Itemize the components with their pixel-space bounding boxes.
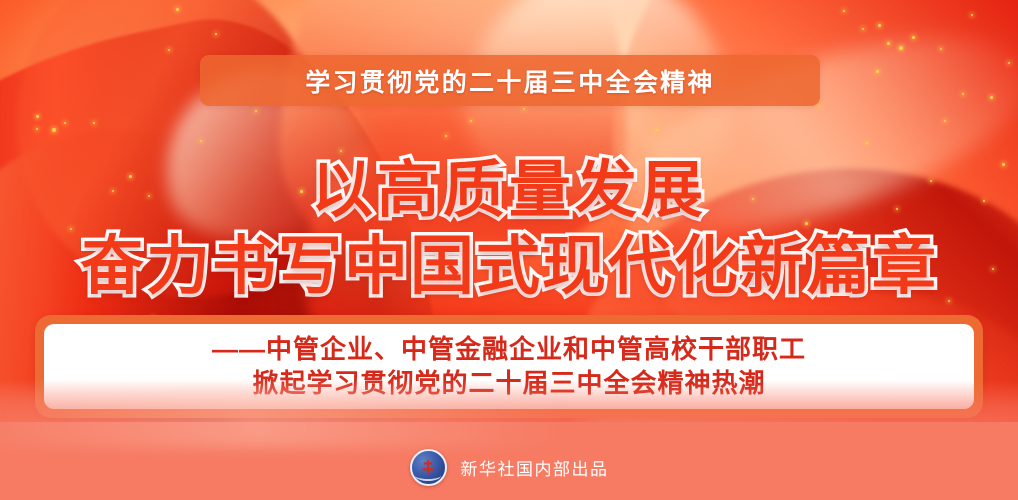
xinhua-news-agency-emblem-icon bbox=[410, 449, 447, 486]
subtitle-line-1: ——中管企业、中管金融企业和中管高校干部职工 bbox=[212, 335, 806, 365]
footer-text: 新华社国内部出品 bbox=[461, 455, 609, 480]
top-banner: 学习贯彻党的二十届三中全会精神 bbox=[200, 55, 820, 106]
footer: 新华社国内部出品 bbox=[0, 449, 1018, 486]
poster-canvas: 学习贯彻党的二十届三中全会精神 以高质量发展 奋力书写中国式现代化新篇章 ——中… bbox=[0, 0, 1018, 500]
background-warm-glow-right bbox=[560, 0, 1018, 325]
top-banner-text: 学习贯彻党的二十届三中全会精神 bbox=[305, 63, 715, 99]
bottom-veil-sheen bbox=[0, 388, 560, 448]
